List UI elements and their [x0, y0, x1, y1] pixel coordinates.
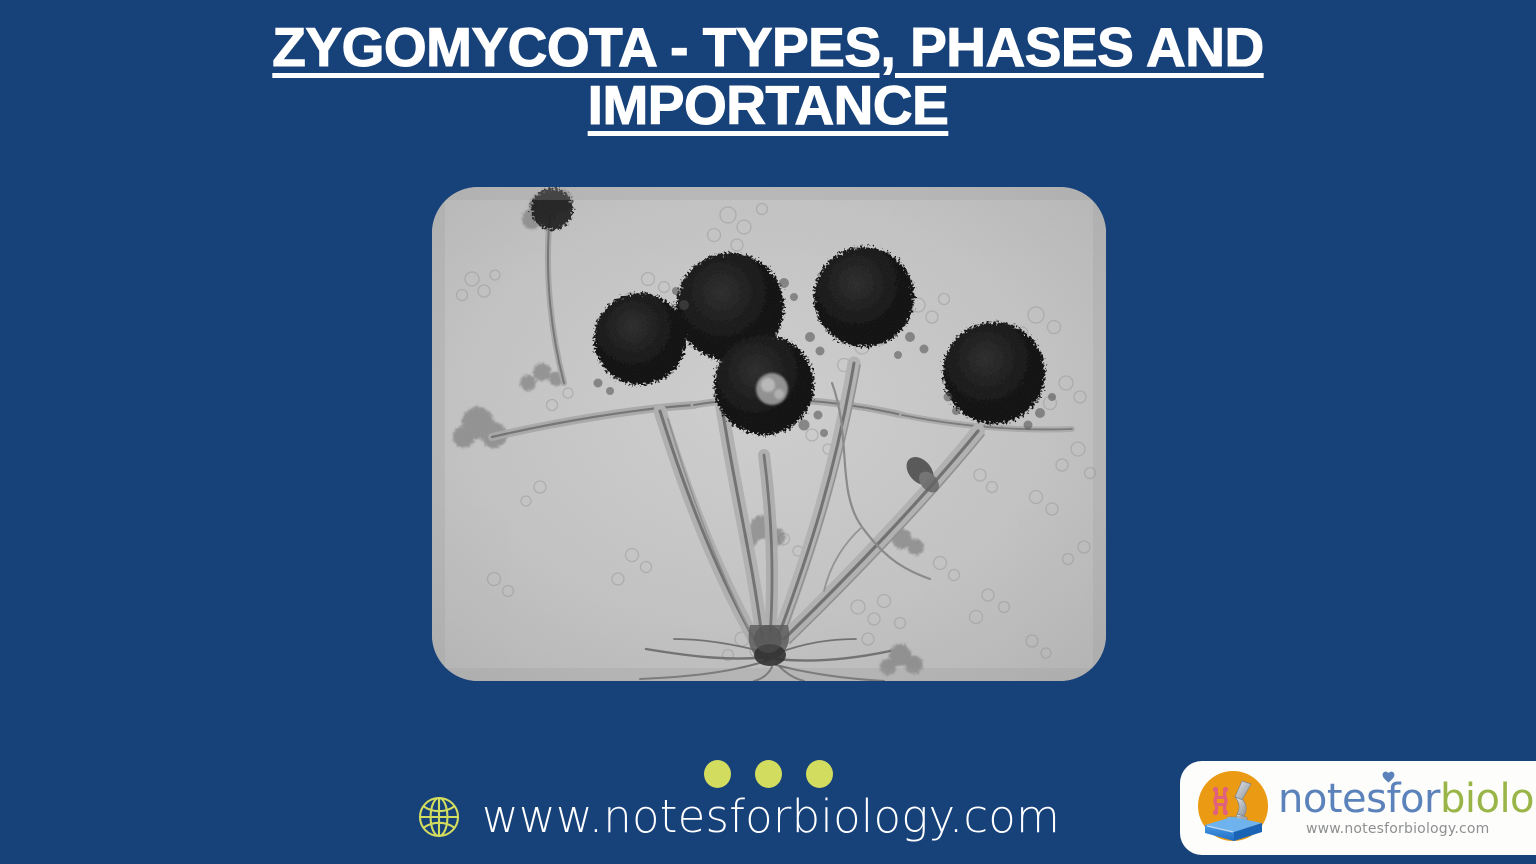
brand-word-notesfor: notesfor	[1278, 776, 1440, 822]
brand-wordmark-text: notesforbiology	[1278, 777, 1536, 821]
page-title: ZYGOMYCOTA - TYPES, PHASES AND IMPORTANC…	[0, 18, 1536, 134]
heart-dot-icon	[1382, 771, 1395, 783]
brand-word-biology: biology	[1440, 776, 1536, 822]
slide-canvas: ZYGOMYCOTA - TYPES, PHASES AND IMPORTANC…	[0, 0, 1536, 864]
brand-logo-badge[interactable]: notesforbiology www.notesforbiology.com	[1180, 761, 1536, 855]
brand-wordmark: notesforbiology www.notesforbiology.com	[1278, 769, 1536, 847]
micrograph-illustration	[432, 187, 1106, 681]
globe-icon	[416, 793, 462, 841]
footer-dot-1	[704, 760, 731, 788]
footer-dot-2	[755, 760, 782, 788]
microscope-on-book-icon	[1194, 769, 1272, 847]
brand-sub-url: www.notesforbiology.com	[1306, 821, 1490, 837]
page-title-text: ZYGOMYCOTA - TYPES, PHASES AND IMPORTANC…	[272, 16, 1263, 136]
micrograph-image	[432, 187, 1106, 681]
footer-dot-3	[806, 760, 833, 788]
footer-url-text: www.notesforbiology.com	[482, 792, 1060, 842]
